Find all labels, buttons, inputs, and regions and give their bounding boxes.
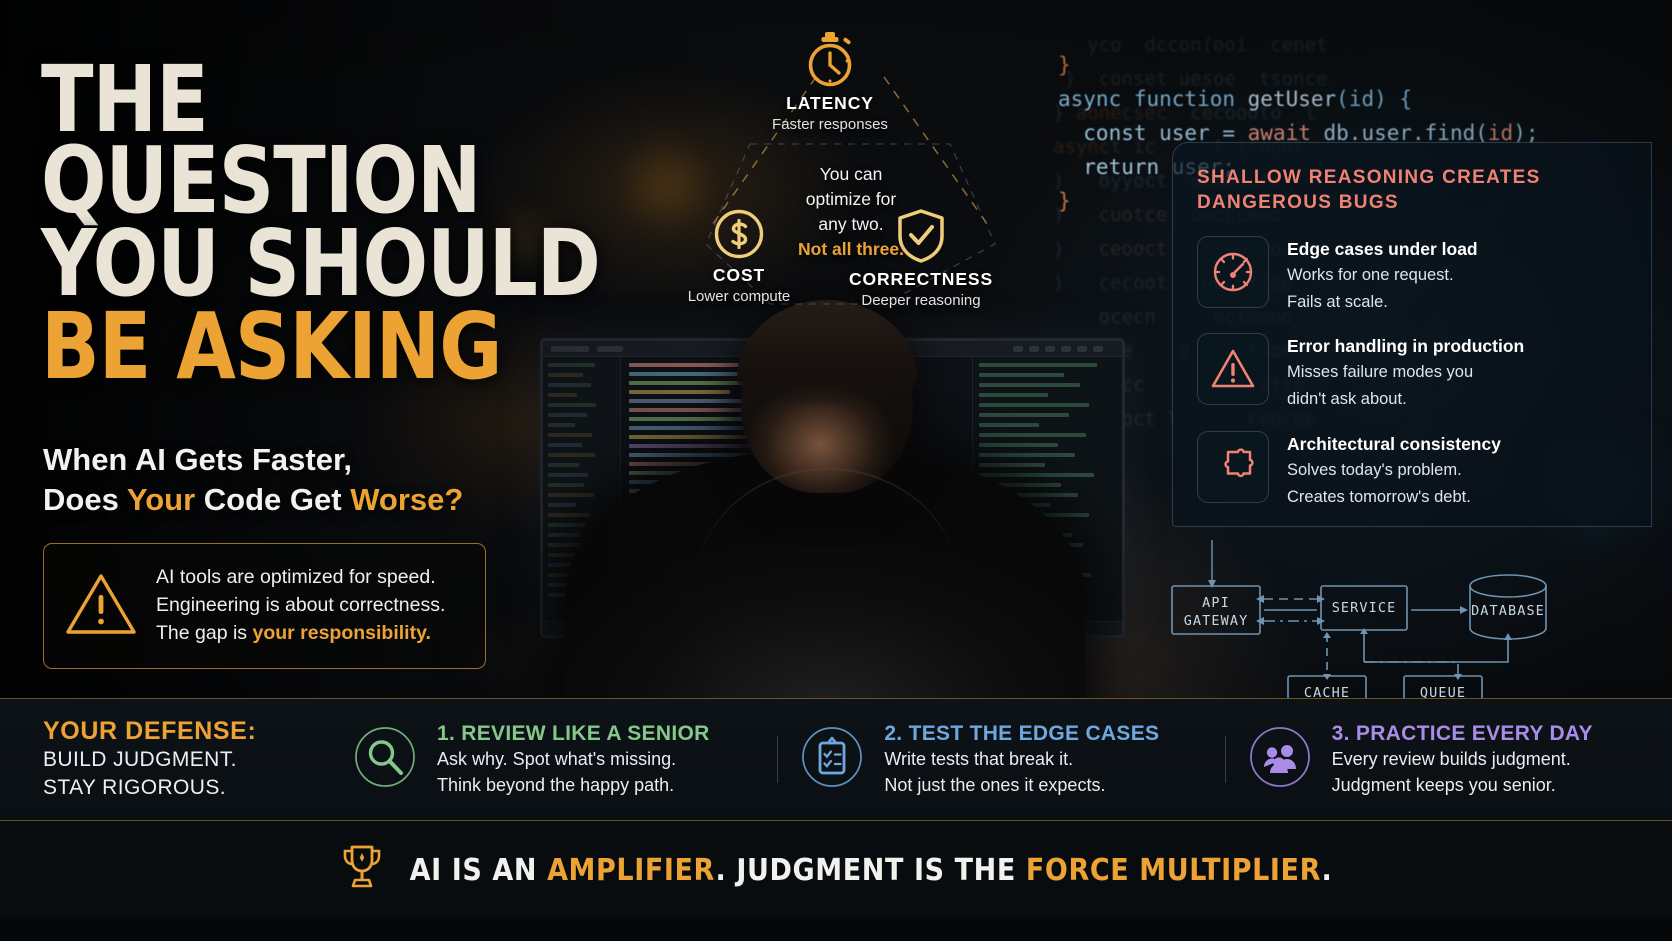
bugs-panel-title-line-1: SHALLOW REASONING CREATES bbox=[1197, 165, 1631, 190]
tradeoff-cost-title: COST bbox=[639, 265, 839, 286]
defense-column-body-1: Every review builds judgment. bbox=[1332, 748, 1593, 771]
arch-label-service: SERVICE bbox=[1321, 600, 1407, 616]
bug-heading: Architectural consistency bbox=[1287, 434, 1501, 455]
subtitle-line-1: When AI Gets Faster, bbox=[43, 440, 643, 480]
subtitle-seg-your: Your bbox=[127, 482, 195, 517]
arch-label-database: DATABASE bbox=[1470, 603, 1546, 619]
code-line-1c: (id) { bbox=[1336, 87, 1412, 111]
defense-line-1: BUILD JUDGMENT. bbox=[43, 746, 330, 774]
bug-body-line-2: didn't ask about. bbox=[1287, 388, 1524, 411]
tradeoff-center-text: You can optimize for any two. Not all th… bbox=[768, 162, 934, 261]
bug-body-line-2: Fails at scale. bbox=[1287, 291, 1478, 314]
tradeoff-correctness-subtitle: Deeper reasoning bbox=[821, 292, 1021, 309]
footer-seg-3: . JUDGMENT IS THE bbox=[716, 853, 1026, 888]
bug-item-text: Architectural consistency Solves today's… bbox=[1287, 431, 1501, 509]
tradeoff-latency-title: LATENCY bbox=[730, 93, 930, 114]
bug-body-line-2: Creates tomorrow's debt. bbox=[1287, 486, 1501, 509]
page-subtitle: When AI Gets Faster, Does Your Code Get … bbox=[43, 440, 643, 519]
subtitle-seg-c: Code Get bbox=[195, 482, 350, 517]
warning-line-3a: The gap is bbox=[156, 622, 252, 644]
footer-text: AI IS AN AMPLIFIER. JUDGMENT IS THE FORC… bbox=[410, 853, 1333, 888]
code-line-1b: getUser bbox=[1248, 87, 1337, 111]
tradeoff-latency-subtitle: Faster responses bbox=[730, 116, 930, 133]
warning-line-1: AI tools are optimized for speed. bbox=[156, 564, 445, 592]
clipboard-check-icon bbox=[801, 726, 865, 793]
people-group-icon bbox=[1249, 726, 1313, 793]
defense-column-body-2: Think beyond the happy path. bbox=[437, 774, 710, 797]
warning-text: AI tools are optimized for speed. Engine… bbox=[156, 564, 445, 647]
defense-column-heading: 3. PRACTICE EVERY DAY bbox=[1332, 722, 1593, 746]
bug-heading: Edge cases under load bbox=[1287, 239, 1478, 260]
warning-line-2: Engineering is about correctness. bbox=[156, 592, 445, 620]
subtitle-line-2: Does Your Code Get Worse? bbox=[43, 480, 643, 520]
tradeoff-cost-subtitle: Lower compute bbox=[639, 288, 839, 305]
code-line-1a: async function bbox=[1058, 87, 1248, 111]
shallow-reasoning-panel: SHALLOW REASONING CREATES DANGEROUS BUGS… bbox=[1172, 142, 1652, 527]
defense-strip: YOUR DEFENSE: BUILD JUDGMENT. STAY RIGOR… bbox=[0, 698, 1672, 820]
bug-body-line-1: Solves today's problem. bbox=[1287, 459, 1501, 482]
defense-column-body-2: Judgment keeps you senior. bbox=[1332, 774, 1593, 797]
page-title: THE QUESTION YOU SHOULD BE ASKING bbox=[41, 60, 661, 388]
defense-column-text: 1. REVIEW LIKE A SENIOR Ask why. Spot wh… bbox=[437, 722, 710, 797]
subtitle-seg-a: Does bbox=[43, 482, 127, 517]
bug-body-line-1: Misses failure modes you bbox=[1287, 361, 1524, 384]
bugs-panel-title-line-2: DANGEROUS BUGS bbox=[1197, 190, 1631, 215]
bugs-panel-title: SHALLOW REASONING CREATES DANGEROUS BUGS bbox=[1197, 165, 1631, 216]
warning-line-3: The gap is your responsibility. bbox=[156, 620, 445, 648]
stopwatch-icon bbox=[730, 30, 930, 88]
footer-seg-1: AI IS AN bbox=[410, 853, 547, 888]
arch-api-line-1: API bbox=[1172, 594, 1260, 612]
defense-column-text: 3. PRACTICE EVERY DAY Every review build… bbox=[1332, 722, 1593, 797]
footer-seg-amplifier: AMPLIFIER bbox=[547, 853, 715, 888]
magnifier-icon bbox=[354, 726, 418, 793]
warning-callout-card: AI tools are optimized for speed. Engine… bbox=[43, 543, 486, 669]
bug-item-text: Edge cases under load Works for one requ… bbox=[1287, 236, 1478, 314]
headline-line-1: THE QUESTION bbox=[41, 60, 618, 222]
warning-line-3b: your responsibility. bbox=[252, 622, 430, 644]
puzzle-piece-icon bbox=[1197, 431, 1269, 503]
tradeoff-center-line-1: You can bbox=[768, 162, 934, 187]
tradeoff-correctness-title: CORRECTNESS bbox=[821, 269, 1021, 290]
defense-column-body-1: Write tests that break it. bbox=[884, 748, 1159, 771]
architecture-diagram: API GATEWAY SERVICE DATABASE CACHE QUEUE bbox=[1168, 548, 1672, 700]
arch-label-api-gateway: API GATEWAY bbox=[1172, 594, 1260, 630]
footer-seg-force-multiplier: FORCE MULTIPLIER bbox=[1026, 853, 1322, 888]
defense-column-test: 2. TEST THE EDGE CASES Write tests that … bbox=[777, 722, 1224, 797]
tradeoff-node-latency: LATENCY Faster responses bbox=[730, 30, 930, 133]
defense-heading-block: YOUR DEFENSE: BUILD JUDGMENT. STAY RIGOR… bbox=[0, 717, 330, 801]
trophy-icon bbox=[340, 842, 384, 899]
arch-api-line-2: GATEWAY bbox=[1172, 612, 1260, 630]
defense-column-heading: 1. REVIEW LIKE A SENIOR bbox=[437, 722, 710, 746]
footer-bottom-edge bbox=[0, 919, 1672, 941]
tradeoff-center-line-2: optimize for bbox=[768, 187, 934, 212]
defense-column-heading: 2. TEST THE EDGE CASES bbox=[884, 722, 1159, 746]
defense-line-2: STAY RIGOROUS. bbox=[43, 774, 330, 802]
bug-item-text: Error handling in production Misses fail… bbox=[1287, 333, 1524, 411]
bug-item-architecture: Architectural consistency Solves today's… bbox=[1197, 431, 1631, 509]
gauge-icon bbox=[1197, 236, 1269, 308]
defense-column-body-2: Not just the ones it expects. bbox=[884, 774, 1159, 797]
bug-body-line-1: Works for one request. bbox=[1287, 264, 1478, 287]
defense-heading: YOUR DEFENSE: bbox=[43, 717, 330, 746]
headline-line-3: BE ASKING bbox=[41, 307, 618, 388]
tradeoff-center-highlight: Not all three. bbox=[768, 237, 934, 262]
tradeoff-center-line-3: any two. bbox=[768, 212, 934, 237]
bug-item-error-handling: Error handling in production Misses fail… bbox=[1197, 333, 1631, 411]
warning-triangle-icon bbox=[64, 571, 138, 642]
tradeoff-triangle-diagram: LATENCY Faster responses COST Lower comp… bbox=[640, 14, 1060, 334]
footer-seg-5: . bbox=[1322, 853, 1333, 888]
defense-column-body-1: Ask why. Spot what's missing. bbox=[437, 748, 710, 771]
defense-column-text: 2. TEST THE EDGE CASES Write tests that … bbox=[884, 722, 1159, 797]
subtitle-seg-worse: Worse? bbox=[350, 482, 463, 517]
defense-column-practice: 3. PRACTICE EVERY DAY Every review build… bbox=[1225, 722, 1672, 797]
bug-item-edge-cases: Edge cases under load Works for one requ… bbox=[1197, 236, 1631, 314]
defense-column-review: 1. REVIEW LIKE A SENIOR Ask why. Spot wh… bbox=[330, 722, 777, 797]
warning-triangle-icon bbox=[1197, 333, 1269, 405]
bug-heading: Error handling in production bbox=[1287, 336, 1524, 357]
